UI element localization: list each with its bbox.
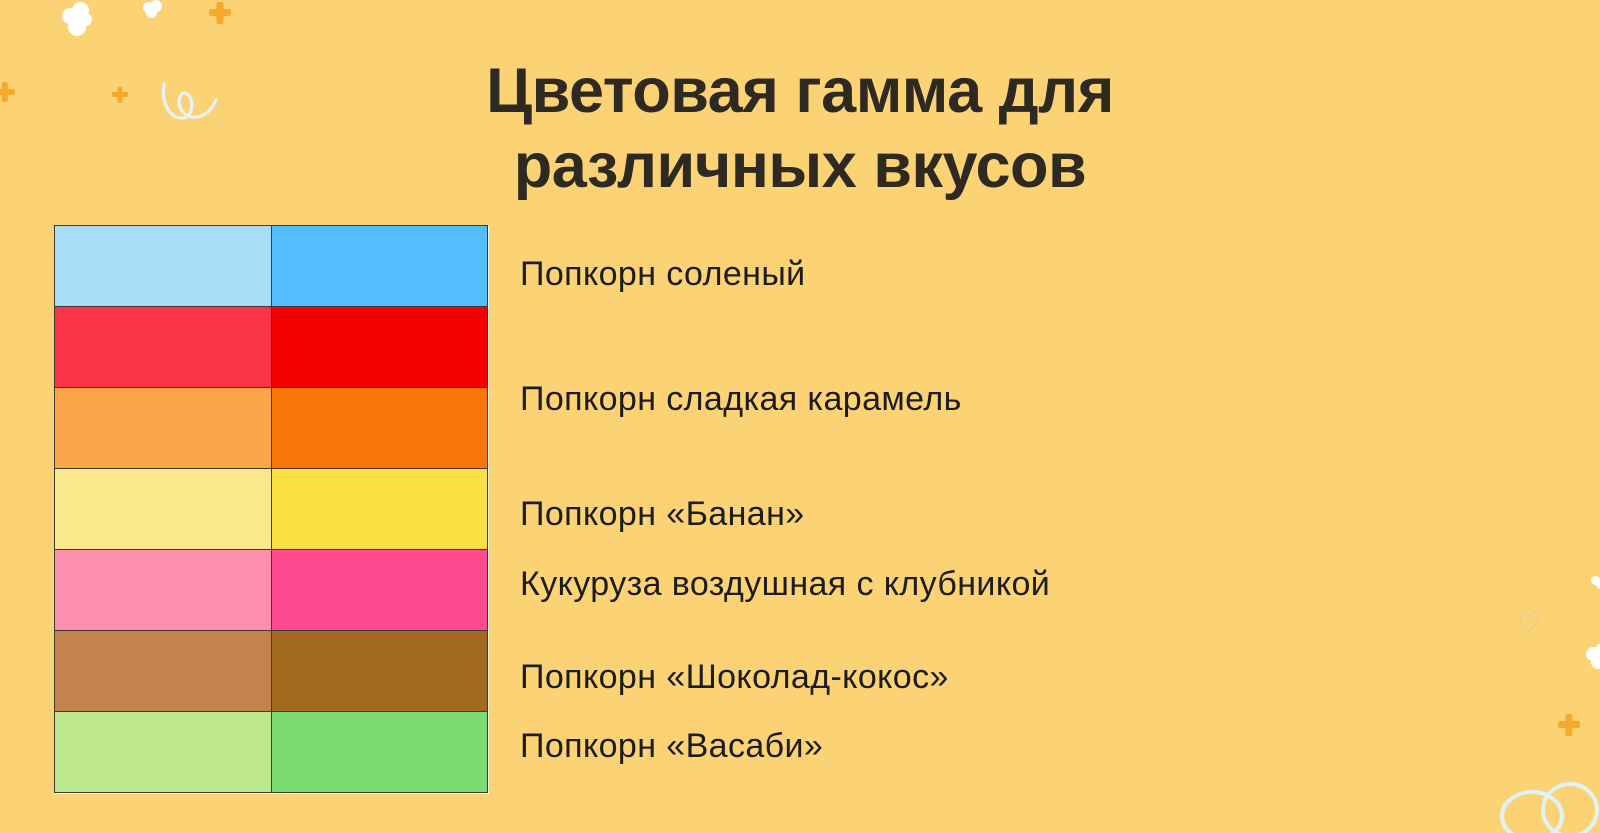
swatch-cell-light-chocolate[interactable] bbox=[55, 631, 272, 712]
flavor-label: Кукуруза воздушная с клубникой bbox=[520, 565, 1050, 604]
page-title: Цветовая гамма для различных вкусов bbox=[0, 54, 1600, 203]
swatch-row bbox=[55, 307, 488, 388]
swatch-cell-light-caramel[interactable] bbox=[55, 307, 272, 388]
swatch-cell-light-salted[interactable] bbox=[55, 226, 272, 307]
swatch-cell-saturated-salted[interactable] bbox=[271, 226, 488, 307]
flavor-label: Попкорн соленый bbox=[520, 255, 806, 294]
swatch-row bbox=[55, 388, 488, 469]
swatch-cell-light-banana[interactable] bbox=[55, 469, 272, 550]
squiggle-rings-icon bbox=[1498, 776, 1600, 833]
flavor-label: Попкорн сладкая карамель bbox=[520, 380, 962, 419]
sparkle-icon bbox=[1558, 721, 1580, 728]
swatch-cell-light-strawberry[interactable] bbox=[55, 550, 272, 631]
swatch-row bbox=[55, 550, 488, 631]
swatch-cell-saturated-chocolate[interactable] bbox=[271, 631, 488, 712]
popcorn-icon bbox=[1586, 643, 1600, 669]
swatch-cell-light-wasabi[interactable] bbox=[55, 712, 272, 793]
swatch-row bbox=[55, 712, 488, 793]
popcorn-icon bbox=[1591, 576, 1600, 590]
swatch-cell-saturated-wasabi[interactable] bbox=[271, 712, 488, 793]
popcorn-icon bbox=[62, 2, 96, 40]
swatch-cell-saturated-banana[interactable] bbox=[271, 469, 488, 550]
swatch-row bbox=[55, 469, 488, 550]
swatch-cell-light-orange[interactable] bbox=[55, 388, 272, 469]
color-palette-table bbox=[54, 225, 488, 793]
swatch-cell-saturated-orange[interactable] bbox=[271, 388, 488, 469]
page-title-line-2: различных вкусов bbox=[514, 131, 1086, 201]
flavor-label: Попкорн «Банан» bbox=[520, 495, 805, 534]
flavor-label-list: Попкорн соленыйПопкорн сладкая карамельП… bbox=[520, 225, 1280, 795]
sparkle-icon bbox=[209, 9, 231, 16]
swatch-cell-saturated-strawberry[interactable] bbox=[271, 550, 488, 631]
popcorn-icon bbox=[143, 0, 163, 20]
heart-outline-icon bbox=[1516, 608, 1542, 634]
swatch-row bbox=[55, 226, 488, 307]
page-title-line-1: Цветовая гамма для bbox=[486, 56, 1114, 126]
slide-canvas: Цветовая гамма для различных вкусов Попк… bbox=[0, 0, 1600, 833]
swatch-row bbox=[55, 631, 488, 712]
swatch-cell-saturated-caramel[interactable] bbox=[271, 307, 488, 388]
flavor-label: Попкорн «Васаби» bbox=[520, 727, 823, 766]
flavor-label: Попкорн «Шоколад-кокос» bbox=[520, 658, 949, 697]
